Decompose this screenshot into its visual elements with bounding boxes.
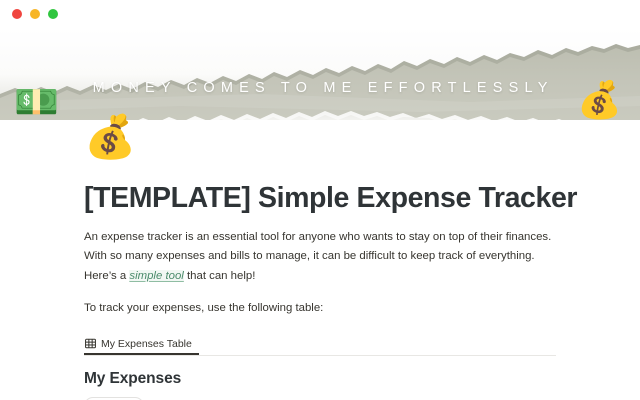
window-titlebar bbox=[0, 0, 640, 28]
page-content: [TEMPLATE] Simple Expense Tracker An exp… bbox=[0, 120, 640, 400]
app-window: 💵 💰 MONEY COMES TO ME EFFORTLESSLY 💰 [TE… bbox=[0, 0, 640, 400]
minimize-window-button[interactable] bbox=[30, 9, 40, 19]
instruction-paragraph[interactable]: To track your expenses, use the followin… bbox=[84, 286, 552, 319]
money-stack-emoji: 💵 bbox=[14, 84, 59, 120]
intro-paragraph-text-after: that can help! bbox=[184, 270, 256, 282]
tab-my-expenses-table[interactable]: My Expenses Table bbox=[84, 334, 199, 355]
collection-filter-row: Date bbox=[84, 388, 556, 400]
collection-tab-strip: My Expenses Table bbox=[84, 333, 556, 356]
tab-label: My Expenses Table bbox=[101, 338, 192, 350]
simple-tool-link[interactable]: simple tool bbox=[129, 270, 183, 282]
page-icon-money-bag[interactable]: 💰 bbox=[84, 116, 136, 158]
intro-paragraph[interactable]: An expense tracker is an essential tool … bbox=[84, 216, 552, 287]
close-window-button[interactable] bbox=[12, 9, 22, 19]
maximize-window-button[interactable] bbox=[48, 9, 58, 19]
collection-title[interactable]: My Expenses bbox=[84, 356, 556, 388]
table-icon bbox=[85, 338, 96, 349]
page-title[interactable]: [TEMPLATE] Simple Expense Tracker bbox=[84, 120, 556, 216]
window-controls bbox=[12, 9, 58, 19]
money-bag-emoji: 💰 bbox=[577, 82, 622, 118]
